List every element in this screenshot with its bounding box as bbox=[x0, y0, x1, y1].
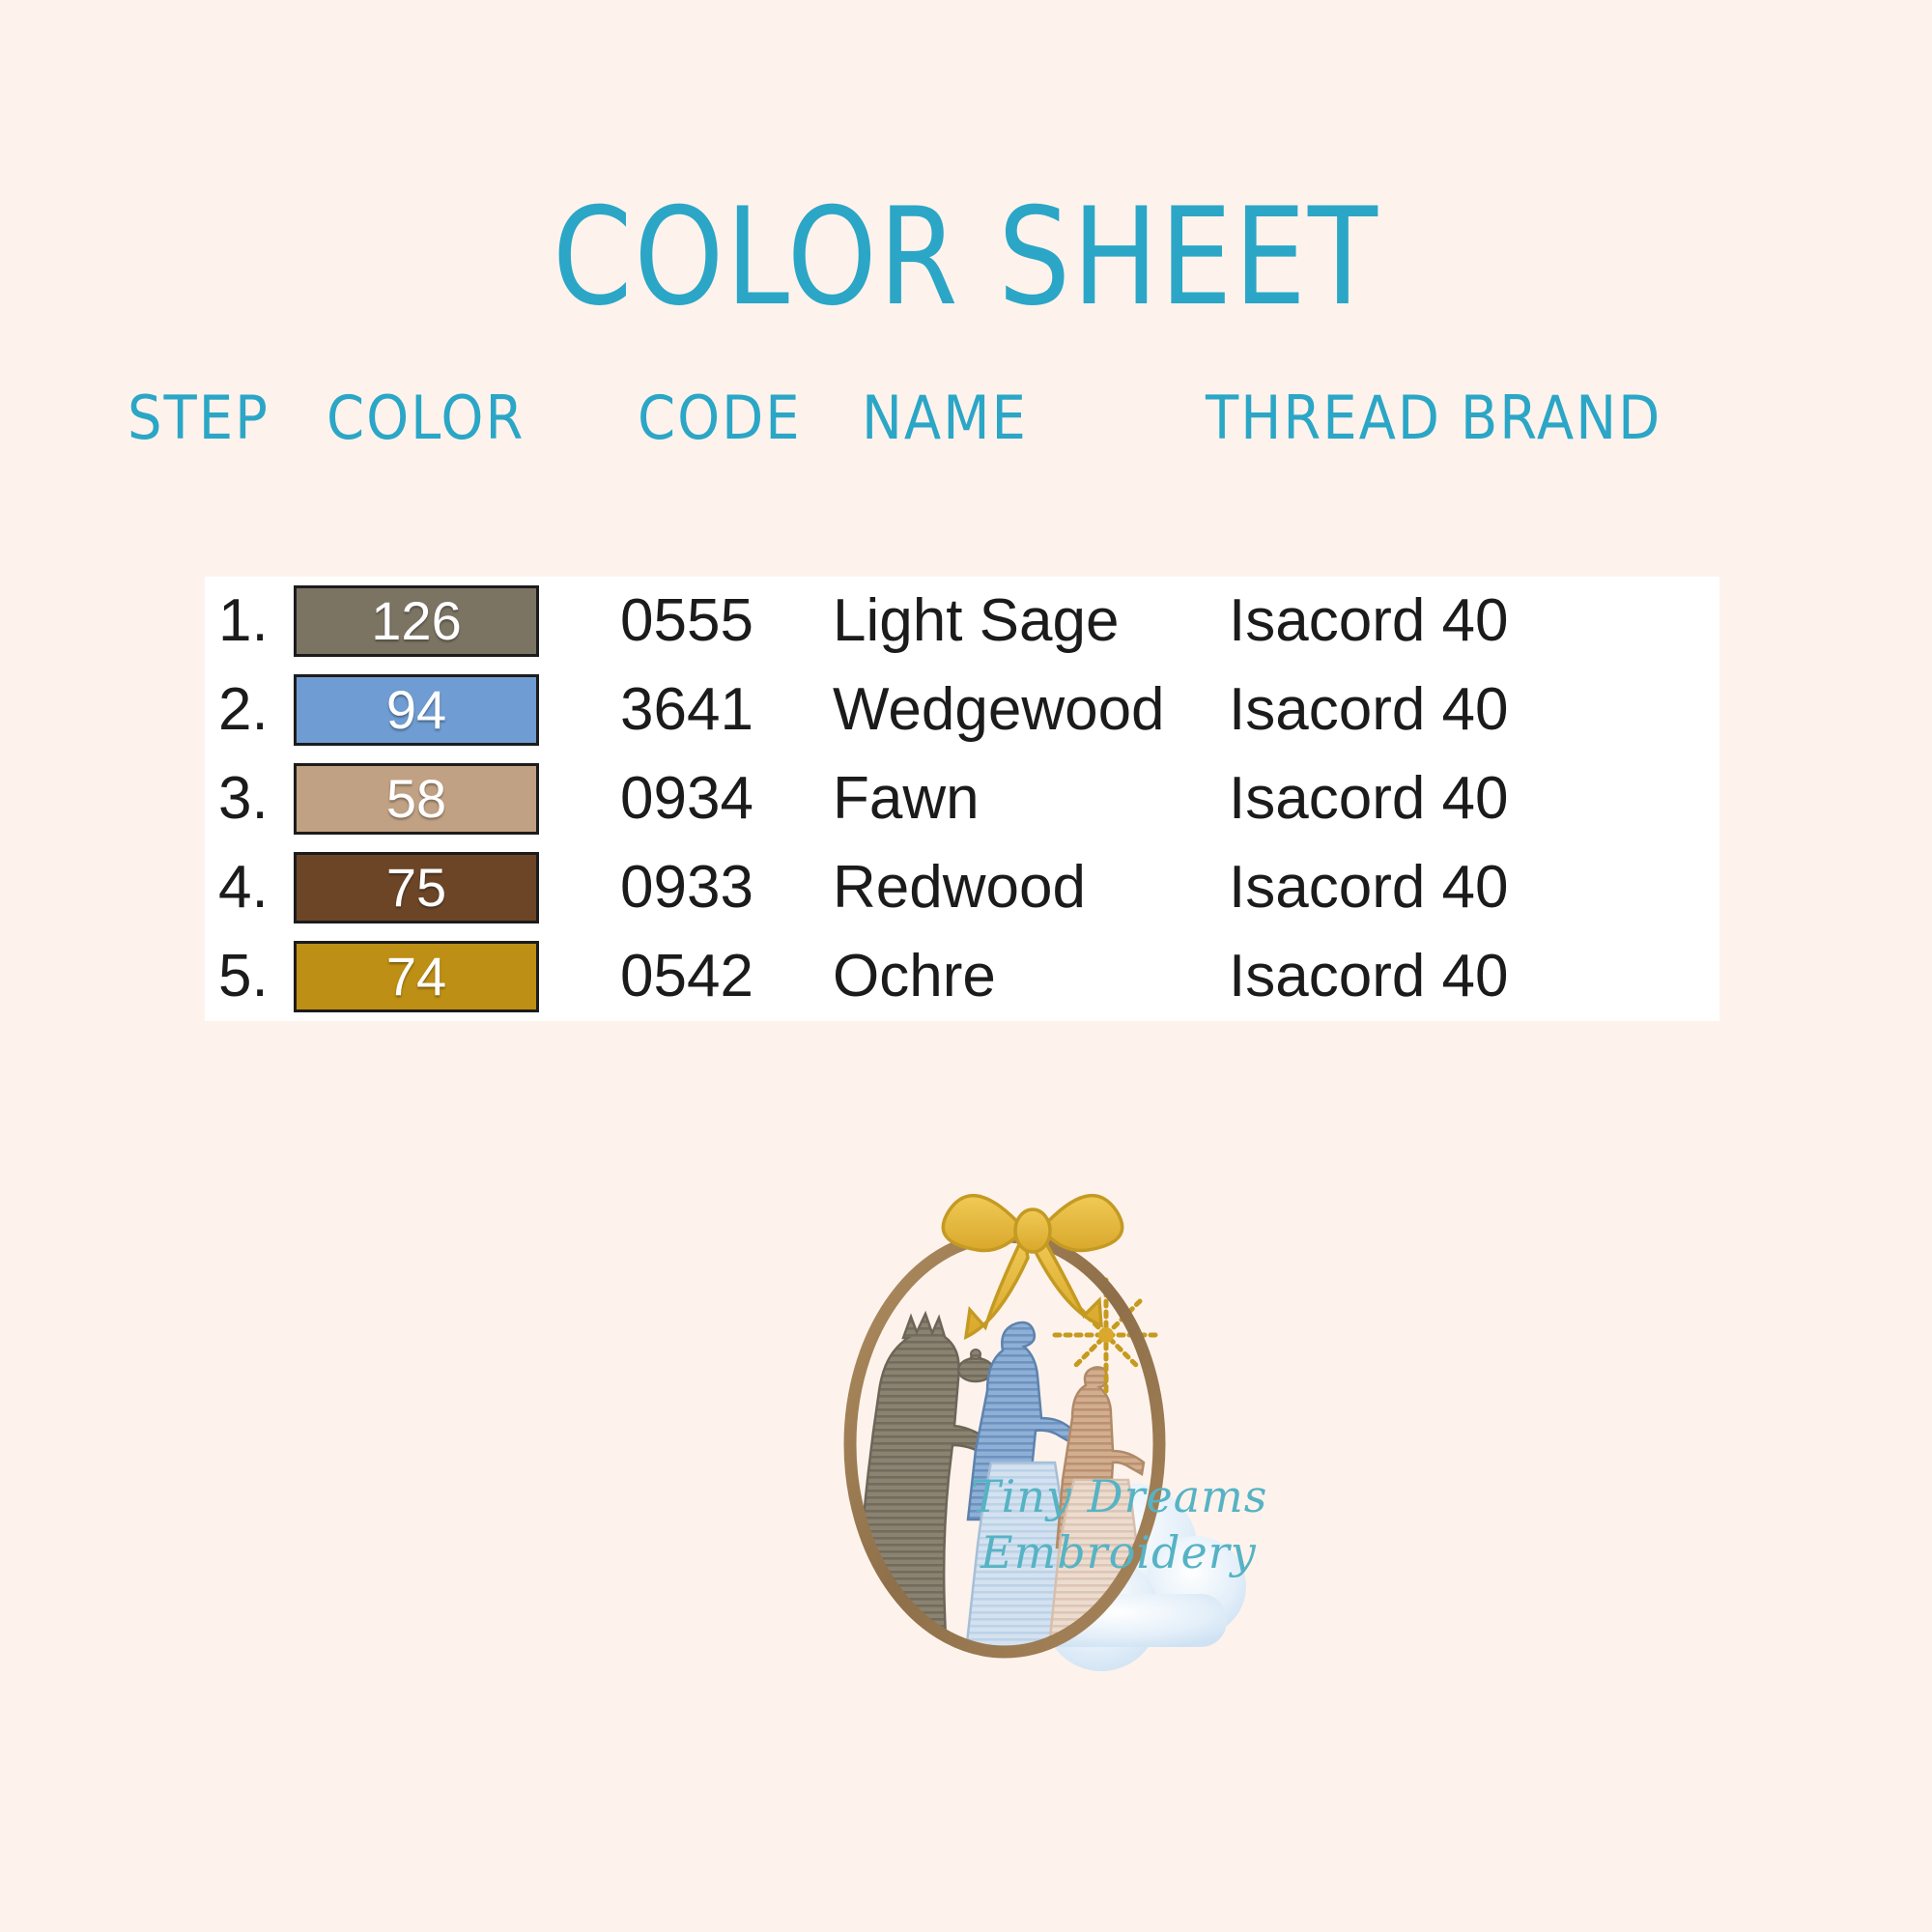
column-header-step: STEP bbox=[128, 386, 270, 451]
table-column-headers: STEP COLOR CODE NAME THREAD BRAND bbox=[0, 386, 1932, 454]
row-color-name: Redwood bbox=[833, 851, 1238, 924]
color-swatch: 74 bbox=[294, 941, 539, 1012]
bow-icon bbox=[943, 1196, 1122, 1337]
row-thread-brand: Isacord 40 bbox=[1229, 851, 1692, 924]
table-row: 3.580934FawnIsacord 40 bbox=[205, 754, 1719, 843]
row-thread-code: 0933 bbox=[620, 851, 833, 924]
color-swatch: 94 bbox=[294, 674, 539, 746]
row-step-number: 2. bbox=[218, 673, 299, 747]
swatch-stitch-count: 75 bbox=[386, 861, 446, 915]
row-color-name: Wedgewood bbox=[833, 673, 1238, 747]
row-thread-brand: Isacord 40 bbox=[1229, 584, 1692, 658]
table-row: 5.740542OchreIsacord 40 bbox=[205, 932, 1719, 1021]
column-header-color: COLOR bbox=[327, 386, 525, 451]
row-color-name: Fawn bbox=[833, 762, 1238, 836]
table-row: 2.943641WedgewoodIsacord 40 bbox=[205, 666, 1719, 754]
embroidery-design-preview bbox=[734, 1111, 1275, 1710]
page-title: COLOR SHEET bbox=[0, 189, 1932, 324]
row-thread-brand: Isacord 40 bbox=[1229, 940, 1692, 1013]
row-thread-code: 3641 bbox=[620, 673, 833, 747]
column-header-name: NAME bbox=[862, 386, 1028, 451]
swatch-stitch-count: 58 bbox=[386, 772, 446, 826]
color-swatch: 58 bbox=[294, 763, 539, 835]
column-header-code: CODE bbox=[638, 386, 802, 451]
row-thread-code: 0555 bbox=[620, 584, 833, 658]
row-color-name: Ochre bbox=[833, 940, 1238, 1013]
table-row: 1.1260555Light SageIsacord 40 bbox=[205, 577, 1719, 666]
row-step-number: 3. bbox=[218, 762, 299, 836]
color-swatch: 75 bbox=[294, 852, 539, 923]
color-swatch: 126 bbox=[294, 585, 539, 657]
row-thread-code: 0542 bbox=[620, 940, 833, 1013]
swatch-stitch-count: 126 bbox=[371, 594, 461, 648]
swatch-stitch-count: 94 bbox=[386, 683, 446, 737]
row-thread-brand: Isacord 40 bbox=[1229, 673, 1692, 747]
row-thread-brand: Isacord 40 bbox=[1229, 762, 1692, 836]
table-row: 4.750933RedwoodIsacord 40 bbox=[205, 843, 1719, 932]
row-step-number: 1. bbox=[218, 584, 299, 658]
column-header-brand: THREAD BRAND bbox=[1206, 386, 1662, 451]
row-step-number: 5. bbox=[218, 940, 299, 1013]
row-color-name: Light Sage bbox=[833, 584, 1238, 658]
star-center bbox=[1098, 1327, 1114, 1343]
swatch-stitch-count: 74 bbox=[386, 950, 446, 1004]
color-table: 1.1260555Light SageIsacord 402.943641Wed… bbox=[205, 577, 1719, 1021]
row-step-number: 4. bbox=[218, 851, 299, 924]
row-thread-code: 0934 bbox=[620, 762, 833, 836]
